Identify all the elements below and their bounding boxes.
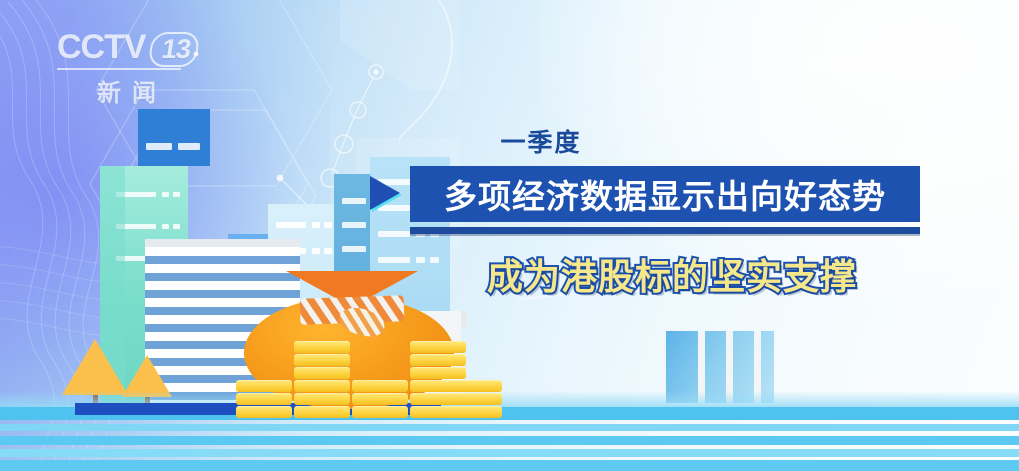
coin-stack-1: [236, 380, 292, 419]
play-triangle-icon: [370, 176, 400, 210]
headline-underline-bar: [410, 227, 920, 234]
headline-banner-text: 多项经济数据显示出向好态势: [444, 170, 886, 218]
headline-kicker: 一季度: [366, 126, 926, 160]
coin-stacks-group: [236, 359, 496, 419]
ground-water-bands: [0, 391, 1019, 471]
coin-stack-3: [352, 380, 408, 419]
headline-banner: 多项经济数据显示出向好态势: [410, 166, 920, 222]
coin-stack-2: [294, 341, 350, 419]
headline-block: 一季度 多项经济数据显示出向好态势 成为港股标的坚实支撑: [366, 126, 926, 222]
broadcast-graphic-screen: CCTV13 新闻 央视新闻客户端 一季度 多项经济数据显示出向好态势 成为港股…: [0, 0, 1019, 471]
building-blue-cap: [138, 109, 210, 166]
headline-banner-row: 多项经济数据显示出向好态势 成为港股标的坚实支撑: [366, 166, 926, 222]
headline-subline: 成为港股标的坚实支撑: [422, 248, 922, 300]
coin-stack-5: [446, 380, 502, 419]
